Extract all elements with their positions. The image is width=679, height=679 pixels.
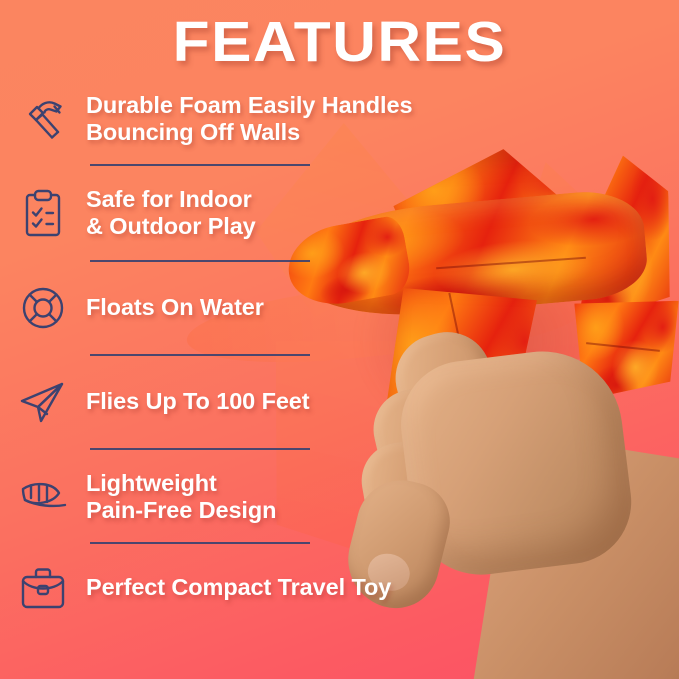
feature-item-safe-indoor-outdoor: Safe for Indoor & Outdoor Play [0,182,420,244]
feature-item-durable-foam: Durable Foam Easily Handles Bouncing Off… [0,88,420,150]
paper-plane-icon [0,377,86,427]
plane-panel-line [436,257,586,269]
plane-tail-fin [551,154,673,328]
feature-label: Floats On Water [86,294,264,321]
feature-item-lightweight: Lightweight Pain-Free Design [0,466,420,528]
feature-separator [90,542,310,544]
forearm [472,432,679,679]
plane-panel-line [449,293,473,401]
feature-label: Lightweight Pain-Free Design [86,470,276,525]
feature-separator [90,448,310,450]
feature-label: Perfect Compact Travel Toy [86,574,391,601]
feature-item-floats-on-water: Floats On Water [0,280,420,336]
feature-item-travel-toy: Perfect Compact Travel Toy [0,560,420,616]
briefcase-icon [0,563,86,613]
feature-label: Safe for Indoor & Outdoor Play [86,186,256,241]
clipboard-check-icon [0,186,86,240]
feature-label: Flies Up To 100 Feet [86,388,310,415]
page-title: FEATURES [0,14,679,71]
hammer-icon [0,92,86,146]
feature-item-flies-100-feet: Flies Up To 100 Feet [0,374,420,430]
plane-horizontal-stabilizer [569,295,678,404]
feather-icon [0,473,86,521]
feature-label: Durable Foam Easily Handles Bouncing Off… [86,92,412,147]
life-ring-icon [0,282,86,334]
plane-panel-line [586,342,660,351]
palm [394,342,639,582]
product-feature-poster: FEATURES [0,0,679,679]
feature-separator [90,354,310,356]
feature-list: Durable Foam Easily Handles Bouncing Off… [0,88,420,616]
feature-separator [90,260,310,262]
ghost-tail [471,156,622,378]
feature-separator [90,164,310,166]
